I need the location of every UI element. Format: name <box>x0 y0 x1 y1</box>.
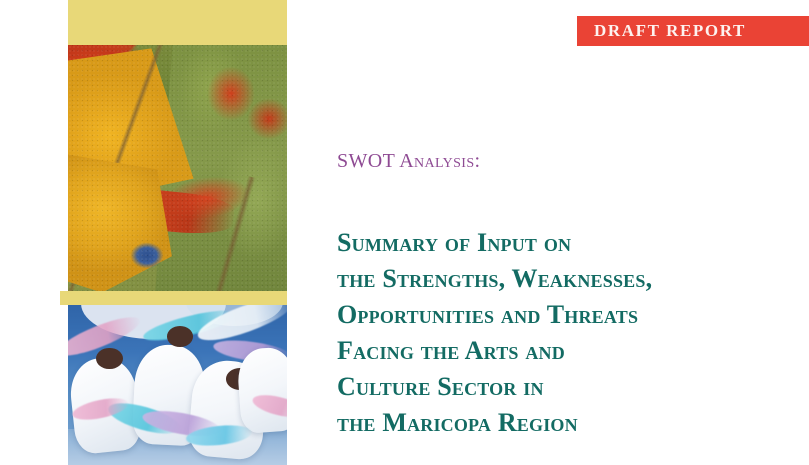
photo-colored-powders-content <box>68 45 287 293</box>
dancer-robe-4 <box>236 346 287 434</box>
photo-dancers-content <box>68 303 287 465</box>
title-line-1: Summary of Input on <box>337 225 797 261</box>
cover-subtitle: SWOT Analysis: <box>337 150 481 173</box>
dancer-head-2 <box>167 326 193 347</box>
draft-report-label: DRAFT REPORT <box>577 21 746 41</box>
cover-title: Summary of Input on the Strengths, Weakn… <box>337 225 797 441</box>
accent-band-top <box>68 0 287 45</box>
draft-report-banner: DRAFT REPORT <box>577 16 809 46</box>
title-line-3: Opportunities and Threats <box>337 297 797 333</box>
title-line-5: Culture Sector in <box>337 369 797 405</box>
photo-colored-powders <box>68 45 287 293</box>
powder-grain-texture <box>68 45 287 293</box>
title-line-2: the Strengths, Weaknesses, <box>337 261 797 297</box>
accent-band-separator <box>60 291 287 305</box>
photo-dancers <box>68 303 287 465</box>
title-line-4: Facing the Arts and <box>337 333 797 369</box>
title-line-6: the Maricopa Region <box>337 405 797 441</box>
cover-artwork-column <box>68 0 287 465</box>
